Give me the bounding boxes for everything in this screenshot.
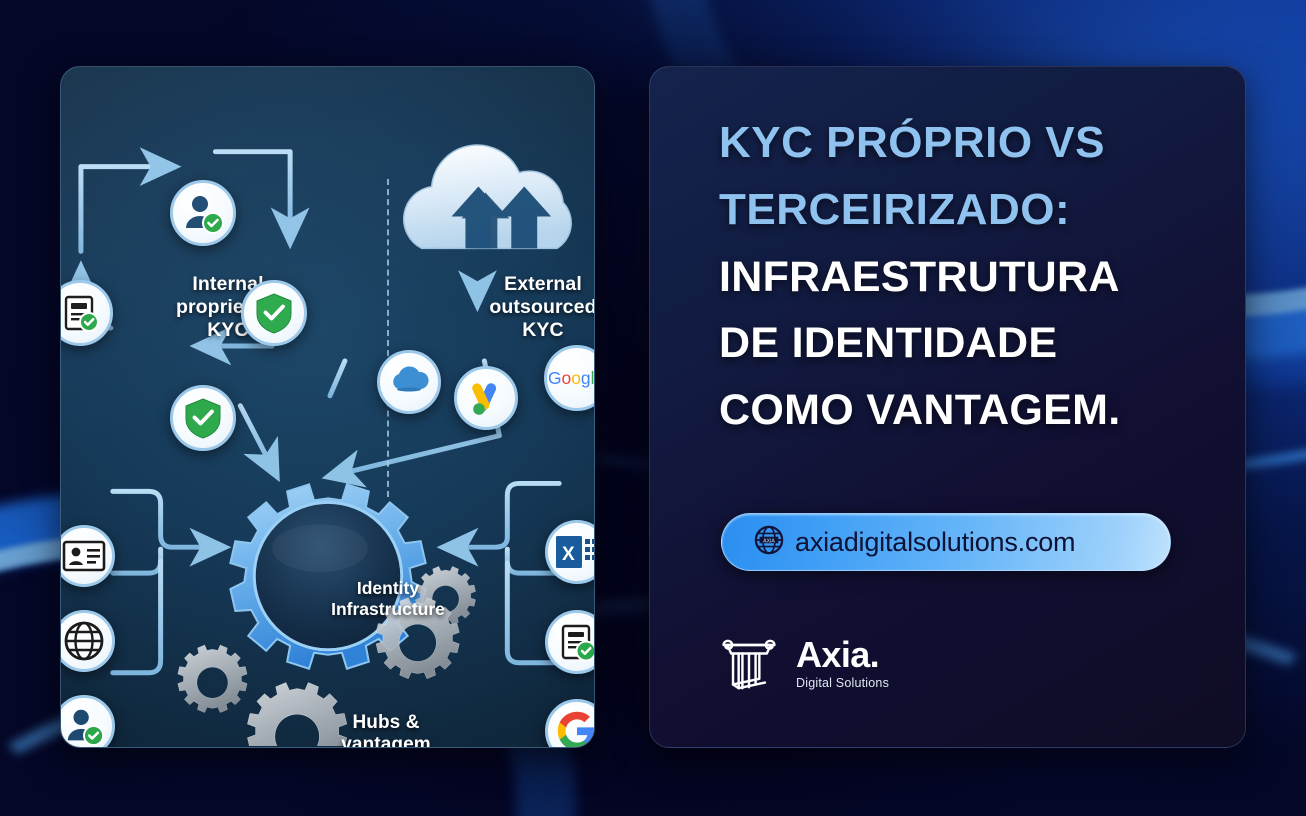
logo-tagline: Digital Solutions [796,676,889,690]
label-hubs-vantagem: Hubs & vantagem [296,712,476,748]
website-url-pill[interactable]: AXIA axiadigitalsolutions.com [721,513,1171,571]
axia-logo[interactable]: Axia. Digital Solutions [718,630,889,697]
label-external-kyc: External outsourced KYC [443,273,595,341]
greek-column-icon [718,630,780,697]
user-verified-icon[interactable] [170,180,236,246]
website-url-text: axiadigitalsolutions.com [795,527,1075,558]
svg-text:AXIA: AXIA [763,538,775,544]
page-title: KYC PRÓPRIO VS TERCEIRIZADO: INFRAESTRUT… [719,110,1219,444]
headline-line-5: COMO VANTAGEM. [719,377,1219,444]
globe-icon: AXIA [754,525,784,560]
headline-line-3: INFRAESTRUTURA [719,244,1219,311]
headline-line-1: KYC PRÓPRIO VS [719,110,1219,177]
shield-check-icon[interactable] [241,280,307,346]
screenshot-root: Internal proprietary KYC External outsou… [0,0,1306,816]
shield-check-icon[interactable] [170,385,236,451]
label-identity-infrastructure: Identity Infrastructure [304,578,472,620]
kyc-infographic-card: Internal proprietary KYC External outsou… [60,66,595,748]
decor-gear-icon [178,645,247,713]
dashed-divider [387,179,389,497]
google-ads-icon[interactable] [454,366,518,430]
logo-brand-name: Axia. [796,637,889,673]
svg-text:X: X [562,544,575,565]
headline-line-2: TERCEIRIZADO: [719,177,1219,244]
svg-text:Google: Google [548,368,595,388]
cloud-icon[interactable] [377,350,441,414]
label-internal-kyc: Internal proprietary KYC [113,273,343,341]
headline-line-4: DE IDENTIDADE [719,310,1219,377]
